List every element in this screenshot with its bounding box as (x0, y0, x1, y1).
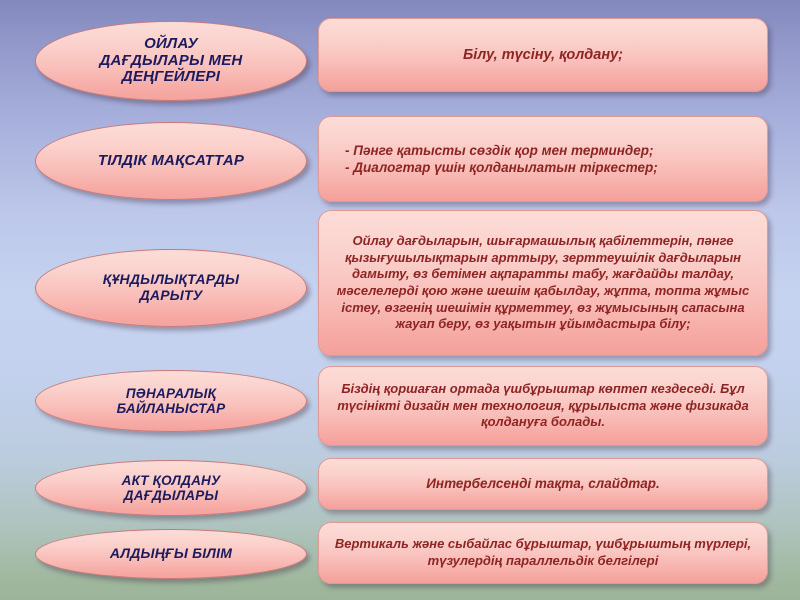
category-label-prior-knowledge[interactable]: АЛДЫҢҒЫ БІЛІМ (35, 529, 307, 579)
content-box-prior-knowledge[interactable]: Вертикаль және сыбайлас бұрыштар, үшбұры… (318, 522, 768, 584)
content-box-text: - Пәнге қатысты сөздік қор мен терминдер… (345, 142, 658, 177)
category-label-ict-skills[interactable]: АКТ ҚОЛДАНУ ДАҒДЫЛАРЫ (35, 460, 307, 516)
category-label-text: ҚҰНДЫЛЫҚТАРДЫ ДАРЫТУ (103, 272, 239, 303)
category-label-values[interactable]: ҚҰНДЫЛЫҚТАРДЫ ДАРЫТУ (35, 249, 307, 327)
content-box-text: Білу, түсіну, қолдану; (463, 46, 623, 65)
slide-canvas: ОЙЛАУ ДАҒДЫЛАРЫ МЕН ДЕҢГЕЙЛЕРІ Білу, түс… (0, 0, 800, 600)
category-label-text: АКТ ҚОЛДАНУ ДАҒДЫЛАРЫ (122, 473, 221, 503)
category-label-text: ПӘНАРАЛЫҚ БАЙЛАНЫСТАР (117, 386, 226, 416)
content-box-language-objectives[interactable]: - Пәнге қатысты сөздік қор мен терминдер… (318, 116, 768, 202)
content-box-values[interactable]: Ойлау дағдыларын, шығармашылық қабілетте… (318, 210, 768, 356)
category-label-thinking-skills[interactable]: ОЙЛАУ ДАҒДЫЛАРЫ МЕН ДЕҢГЕЙЛЕРІ (35, 21, 307, 101)
content-box-text: Вертикаль және сыбайлас бұрыштар, үшбұры… (333, 536, 753, 569)
category-label-text: ОЙЛАУ ДАҒДЫЛАРЫ МЕН ДЕҢГЕЙЛЕРІ (100, 36, 243, 86)
category-label-text: ТІЛДІК МАҚСАТТАР (98, 153, 244, 170)
content-box-thinking-skills[interactable]: Білу, түсіну, қолдану; (318, 18, 768, 92)
content-box-text: Ойлау дағдыларын, шығармашылық қабілетте… (333, 233, 753, 333)
content-box-text: Біздің қоршаған ортада үшбұрыштар көптеп… (333, 381, 753, 431)
content-box-text: Интербелсенді тақта, слайдтар. (426, 475, 660, 492)
category-label-text: АЛДЫҢҒЫ БІЛІМ (110, 546, 232, 562)
category-label-language-objectives[interactable]: ТІЛДІК МАҚСАТТАР (35, 122, 307, 200)
content-box-ict-skills[interactable]: Интербелсенді тақта, слайдтар. (318, 458, 768, 510)
content-box-cross-curricular-links[interactable]: Біздің қоршаған ортада үшбұрыштар көптеп… (318, 366, 768, 446)
category-label-cross-curricular-links[interactable]: ПӘНАРАЛЫҚ БАЙЛАНЫСТАР (35, 370, 307, 432)
